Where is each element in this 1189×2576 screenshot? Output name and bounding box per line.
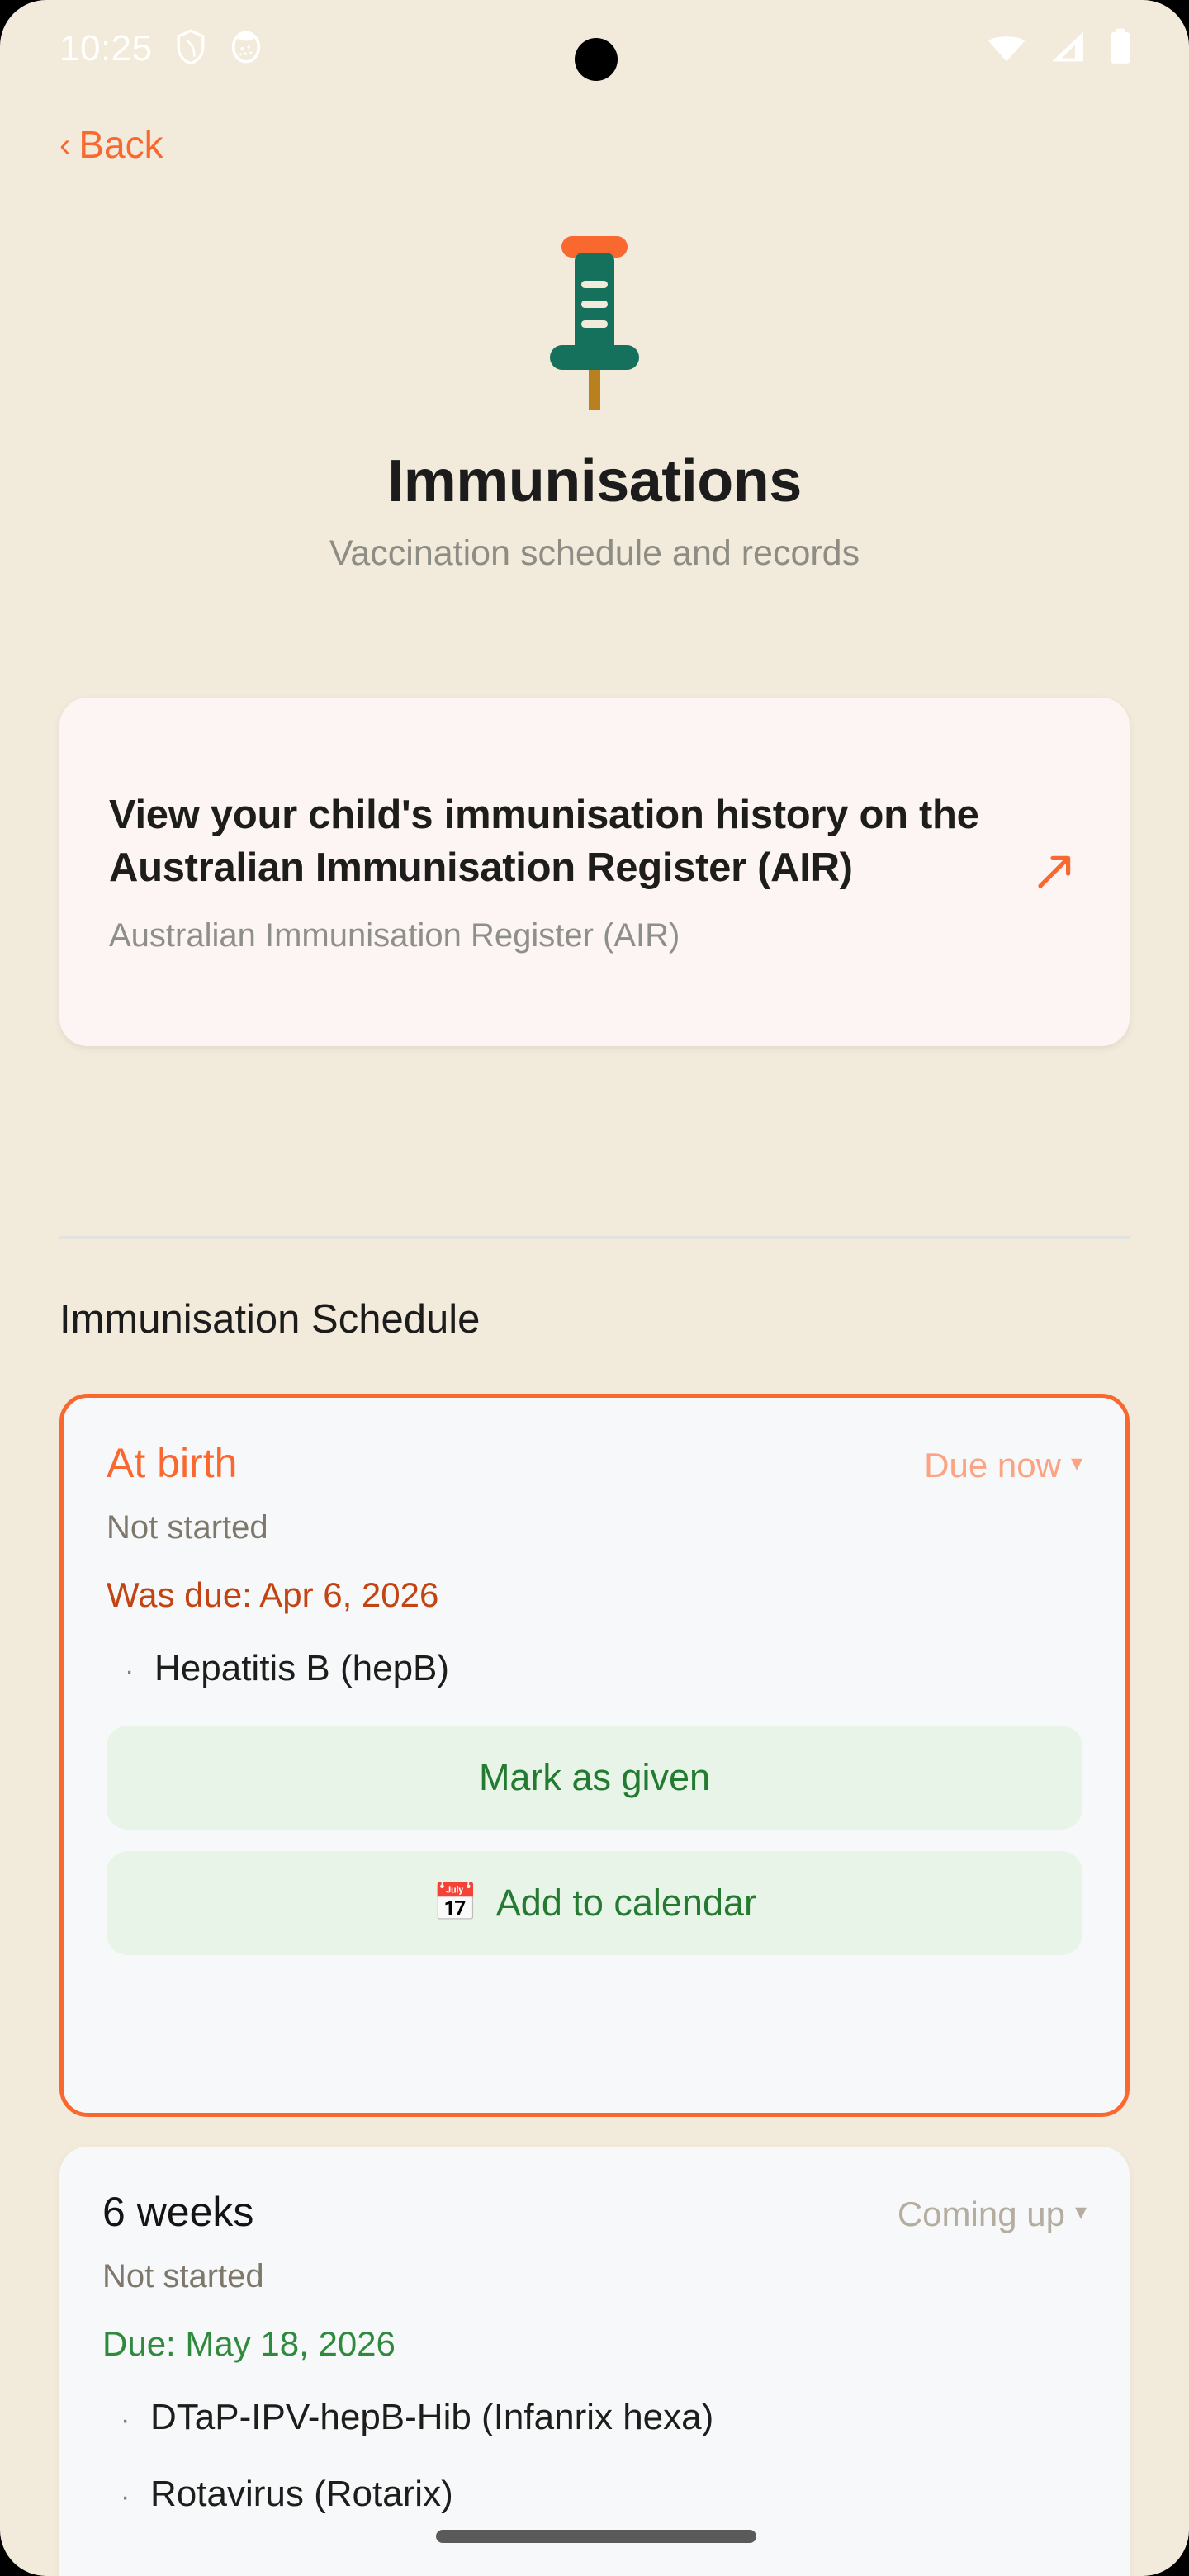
back-button[interactable]: ‹ Back [59,125,163,163]
vaccine-list: · DTaP-IPV-hepB-Hib (Infanrix hexa) · Ro… [102,2398,1087,2515]
syringe-icon [0,228,1189,418]
schedule-card-at-birth[interactable]: At birth Due now ▾ Not started Was due: … [59,1394,1130,2117]
air-card-text: View your child's immunisation history o… [109,789,1026,954]
mark-as-given-label: Mark as given [479,1756,710,1799]
chevron-down-icon: ▾ [1071,1451,1082,1475]
back-button-label: Back [78,125,163,163]
schedule-section-heading: Immunisation Schedule [59,1296,480,1342]
status-badge-label: Coming up [898,2197,1065,2232]
phone-screen: 10:25 [0,0,1189,2576]
card-header-row: At birth Due now ▾ [107,1442,1082,1484]
card-content: 6 weeks Coming up ▾ Not started Due: May… [59,2147,1130,2515]
vaccine-name: Hepatitis B (hepB) [154,1649,449,1688]
page-title: Immunisations [0,447,1189,515]
list-item: · Hepatitis B (hepB) [107,1649,1082,1688]
air-card-subtitle: Australian Immunisation Register (AIR) [109,917,1026,954]
cellular-signal-icon [1049,31,1087,68]
schedule-card-6-weeks[interactable]: 6 weeks Coming up ▾ Not started Due: May… [59,2147,1130,2576]
vaccine-list: · Hepatitis B (hepB) [107,1649,1082,1688]
age-label: At birth [107,1442,237,1484]
status-badge-label: Due now [924,1448,1061,1483]
progress-text: Not started [102,2260,1087,2293]
list-item: · Rotavirus (Rotarix) [102,2474,1087,2514]
chevron-down-icon: ▾ [1075,2200,1087,2223]
battery-icon [1108,29,1133,69]
page-subtitle: Vaccination schedule and records [0,533,1189,574]
calendar-icon: 📅 [433,1885,478,1921]
home-gesture-bar[interactable] [436,2530,756,2543]
progress-text: Not started [107,1511,1082,1544]
chevron-left-icon: ‹ [59,129,70,162]
add-to-calendar-label: Add to calendar [496,1882,756,1925]
bullet-icon: · [121,2406,150,2434]
card-content: At birth Due now ▾ Not started Was due: … [64,1398,1125,1955]
status-bar-clock: 10:25 [59,31,153,67]
bullet-icon: · [121,2483,150,2511]
list-item: · DTaP-IPV-hepB-Hib (Infanrix hexa) [102,2398,1087,2437]
status-badge[interactable]: Due now ▾ [924,1448,1082,1483]
add-to-calendar-button[interactable]: 📅 Add to calendar [107,1851,1082,1955]
air-register-link-card[interactable]: View your child's immunisation history o… [59,698,1130,1046]
cookie-icon [229,28,263,70]
due-date-text: Was due: Apr 6, 2026 [107,1578,1082,1612]
age-label: 6 weeks [102,2191,253,2233]
section-divider [59,1236,1130,1239]
status-bar-right [986,29,1133,69]
camera-punch-hole [575,38,618,81]
air-card-title: View your child's immunisation history o… [109,789,1026,893]
status-badge[interactable]: Coming up ▾ [898,2197,1087,2232]
due-date-text: Due: May 18, 2026 [102,2327,1087,2361]
status-bar-left: 10:25 [59,28,263,70]
wifi-icon [986,31,1027,68]
vaccine-name: DTaP-IPV-hepB-Hib (Infanrix hexa) [150,2398,713,2437]
bullet-icon: · [125,1657,154,1685]
status-bar: 10:25 [0,0,1189,97]
vaccine-name: Rotavirus (Rotarix) [150,2474,453,2514]
shield-icon [174,28,207,70]
external-link-arrow-icon [1026,850,1083,894]
mark-as-given-button[interactable]: Mark as given [107,1726,1082,1830]
card-header-row: 6 weeks Coming up ▾ [102,2191,1087,2233]
page-header: Immunisations Vaccination schedule and r… [0,228,1189,574]
